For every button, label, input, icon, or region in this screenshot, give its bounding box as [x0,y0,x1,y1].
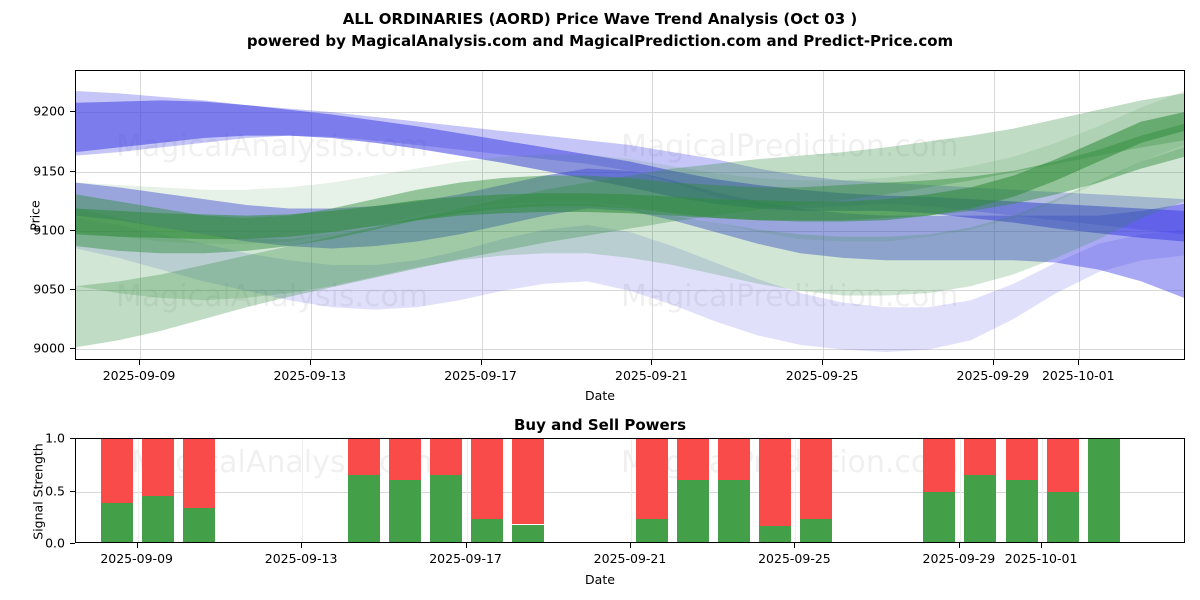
price-x-tick-mark [310,360,311,365]
price-wave-bands [76,71,1184,359]
sell-power-segment [718,439,750,480]
buy-power-segment [718,480,750,542]
sell-power-segment [183,439,215,508]
buy-power-segment [471,519,503,542]
buy-power-segment [677,480,709,542]
power-bar[interactable] [718,439,750,542]
price-y-tick-mark [70,111,75,112]
power-bar[interactable] [430,439,462,542]
price-wave-plot: MagicalAnalysis.com MagicalPrediction.co… [75,70,1185,360]
power-bar[interactable] [800,439,832,542]
price-y-tick-mark [70,289,75,290]
price-x-tick-label: 2025-09-29 [957,368,1030,383]
power-bar[interactable] [471,439,503,542]
sell-power-segment [677,439,709,480]
power-bar[interactable] [183,439,215,542]
sell-power-segment [348,439,380,475]
powers-y-tick-label: 0.5 [45,483,65,498]
sell-power-segment [759,439,791,526]
price-x-tick-mark [993,360,994,365]
buy-sell-powers-panel: MagicalAnalysis.com MagicalPrediction.co… [0,410,1200,600]
price-y-tick-mark [70,171,75,172]
powers-bar-group [76,439,1184,542]
sell-power-segment [101,439,133,503]
power-bar[interactable] [964,439,996,542]
powers-y-tick-mark [70,491,75,492]
buy-power-segment [964,475,996,542]
powers-y-tick-label: 1.0 [45,431,65,446]
buy-power-segment [759,526,791,542]
power-bar[interactable] [1047,439,1079,542]
powers-x-tick-label: 2025-09-17 [429,551,502,566]
powers-y-tick-mark [70,543,75,544]
powers-x-tick-mark [466,543,467,548]
buy-power-segment [512,525,544,543]
power-bar[interactable] [389,439,421,542]
buy-power-segment [923,492,955,542]
buy-power-segment [1088,439,1120,542]
price-y-tick-mark [70,230,75,231]
price-y-tick-label: 9200 [33,104,65,119]
powers-y-tick-label: 0.0 [45,536,65,551]
price-y-axis-title: Price [28,176,43,256]
sell-power-segment [471,439,503,519]
price-x-tick-label: 2025-09-25 [786,368,859,383]
price-x-tick-label: 2025-09-17 [444,368,517,383]
powers-x-tick-label: 2025-09-29 [923,551,996,566]
buy-power-segment [636,519,668,542]
buy-sell-powers-plot: MagicalAnalysis.com MagicalPrediction.co… [75,438,1185,543]
buy-power-segment [1047,492,1079,542]
buy-power-segment [101,503,133,542]
sell-power-segment [142,439,174,496]
powers-x-tick-mark [794,543,795,548]
buy-power-segment [389,480,421,542]
price-x-tick-label: 2025-09-09 [103,368,176,383]
powers-x-tick-label: 2025-09-09 [100,551,173,566]
price-y-tick-mark [70,348,75,349]
powers-x-tick-label: 2025-09-21 [594,551,667,566]
powers-y-tick-mark [70,438,75,439]
sell-power-segment [430,439,462,475]
powers-x-tick-label: 2025-09-13 [265,551,338,566]
sell-power-segment [800,439,832,519]
price-x-tick-mark [139,360,140,365]
sell-power-segment [636,439,668,519]
price-x-tick-mark [481,360,482,365]
sell-power-segment [964,439,996,475]
price-x-tick-label: 2025-10-01 [1042,368,1115,383]
power-bar[interactable] [512,439,544,542]
chart-page: ALL ORDINARIES (AORD) Price Wave Trend A… [0,0,1200,600]
price-y-tick-label: 9050 [33,281,65,296]
sell-power-segment [389,439,421,480]
buy-power-segment [183,508,215,542]
power-bar[interactable] [348,439,380,542]
powers-x-tick-mark [137,543,138,548]
buy-power-segment [348,475,380,542]
powers-x-tick-mark [301,543,302,548]
sell-power-segment [1047,439,1079,492]
price-x-tick-label: 2025-09-21 [615,368,688,383]
powers-x-tick-mark [630,543,631,548]
sell-power-segment [1006,439,1038,480]
powers-x-tick-mark [1041,543,1042,548]
price-y-tick-label: 9000 [33,341,65,356]
power-bar[interactable] [1088,439,1120,542]
power-bar[interactable] [636,439,668,542]
price-x-tick-mark [651,360,652,365]
power-bar[interactable] [923,439,955,542]
power-bar[interactable] [101,439,133,542]
power-bar[interactable] [759,439,791,542]
price-x-tick-label: 2025-09-13 [273,368,346,383]
sell-power-segment [512,439,544,524]
powers-y-axis-title: Signal Strength [31,412,46,572]
power-bar[interactable] [677,439,709,542]
powers-x-tick-label: 2025-10-01 [1005,551,1078,566]
price-x-tick-mark [822,360,823,365]
price-x-tick-mark [1078,360,1079,365]
sell-power-segment [923,439,955,492]
buy-power-segment [1006,480,1038,542]
price-wave-panel: MagicalAnalysis.com MagicalPrediction.co… [0,0,1200,410]
buy-power-segment [142,496,174,542]
buy-power-segment [430,475,462,542]
powers-x-tick-mark [959,543,960,548]
power-bar[interactable] [142,439,174,542]
powers-x-tick-label: 2025-09-25 [758,551,831,566]
powers-x-axis-title: Date [0,572,1200,587]
buy-power-segment [800,519,832,542]
power-bar[interactable] [1006,439,1038,542]
price-x-axis-title: Date [0,388,1200,403]
